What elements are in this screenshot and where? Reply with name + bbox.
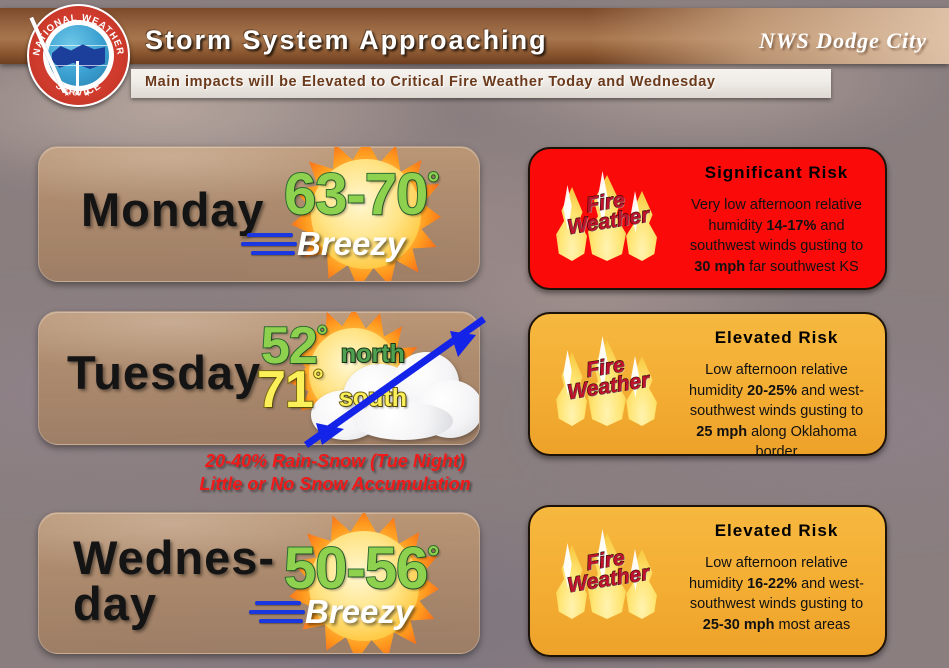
fire-weather-badge-icon: Fire Weather	[542, 167, 672, 267]
tuesday-precip-note: 20-40% Rain-Snow (Tue Night) Little or N…	[175, 450, 495, 497]
risk-body-2: Low afternoon relative humidity 20-25% a…	[680, 360, 873, 463]
wind-lines-icon	[247, 599, 307, 625]
fire-weather-badge-icon: Fire Weather	[542, 332, 672, 432]
subtitle-bar: Main impacts will be Elevated to Critica…	[131, 69, 831, 98]
subtitle-text: Main impacts will be Elevated to Critica…	[145, 74, 716, 90]
day-label-wednesday: Wednes- day	[73, 535, 275, 627]
condition-monday: Breezy	[297, 225, 405, 263]
day-label-tuesday: Tuesday	[67, 350, 261, 396]
temperature-monday: 63-70°	[284, 161, 438, 228]
risk-box-significant: Fire Weather Significant Risk Very low a…	[528, 147, 887, 290]
note-line-1: 20-40% Rain-Snow (Tue Night)	[175, 450, 495, 473]
svg-text:NATIONAL WEATHER: NATIONAL WEATHER	[31, 12, 126, 56]
page-title: Storm System Approaching	[145, 25, 548, 56]
risk-body-1: Very low afternoon relative humidity 14-…	[680, 195, 873, 277]
forecast-panel-wednesday: Wednes- day 50-56° Breezy	[38, 512, 480, 654]
forecast-panel-monday: Monday 63-70° Breezy	[38, 146, 480, 282]
label-south: south	[339, 384, 407, 413]
fire-weather-badge-icon: Fire Weather	[542, 525, 672, 625]
wind-lines-icon	[239, 231, 299, 257]
label-north: north	[341, 340, 405, 369]
temperature-wednesday: 50-56°	[284, 535, 438, 602]
risk-title-3: Elevated Risk	[680, 521, 873, 541]
svg-text:SERVICE: SERVICE	[53, 80, 104, 98]
risk-box-elevated-wednesday: Fire Weather Elevated Risk Low afternoon…	[528, 505, 887, 657]
risk-box-elevated-tuesday: Fire Weather Elevated Risk Low afternoon…	[528, 312, 887, 456]
risk-title-1: Significant Risk	[680, 163, 873, 183]
nws-logo-icon: ★★★ NATIONAL WEATHER SERVICE	[27, 4, 130, 107]
day-label-monday: Monday	[81, 187, 265, 233]
office-name: NWS Dodge City	[759, 28, 927, 54]
risk-body-3: Low afternoon relative humidity 16-22% a…	[680, 553, 873, 635]
forecast-panel-tuesday: Tuesday 52° north 71° south	[38, 311, 480, 445]
risk-title-2: Elevated Risk	[680, 328, 873, 348]
condition-wednesday: Breezy	[305, 593, 413, 631]
note-line-2: Little or No Snow Accumulation	[175, 473, 495, 496]
temperature-south: 71°	[257, 360, 323, 420]
